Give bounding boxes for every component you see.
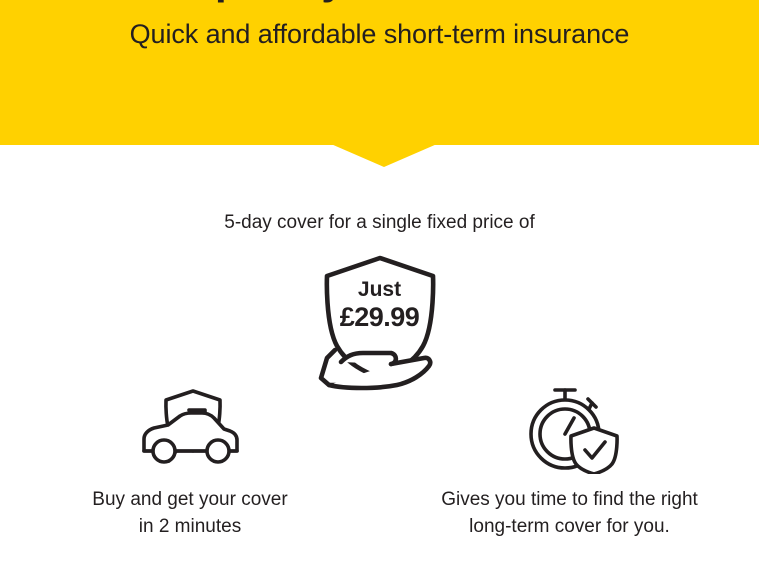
feature-caption-line-2: in 2 minutes bbox=[139, 516, 241, 537]
feature-caption-line-1: Gives you time to find the right bbox=[441, 489, 698, 510]
feature-caption-time-to-choose: Gives you time to find the right long-te… bbox=[441, 476, 698, 540]
hero-banner: Temporary car insurance Quick and afford… bbox=[0, 0, 759, 145]
page-title: Temporary car insurance bbox=[0, 0, 759, 4]
feature-item-time-to-choose: Gives you time to find the right long-te… bbox=[380, 380, 759, 540]
feature-caption-buy-fast: Buy and get your cover in 2 minutes bbox=[92, 476, 287, 540]
feature-list: Buy and get your cover in 2 minutes bbox=[0, 380, 759, 540]
shield-in-hand-icon: Just £29.99 bbox=[305, 252, 455, 392]
hero-headline-clip: Temporary car insurance bbox=[0, 0, 759, 8]
price-intro-text: 5-day cover for a single fixed price of bbox=[0, 210, 759, 236]
hero-subtitle: Quick and affordable short-term insuranc… bbox=[0, 16, 759, 52]
stopwatch-shield-check-icon bbox=[518, 380, 622, 476]
feature-caption-line-2: long-term cover for you. bbox=[469, 516, 670, 537]
car-shield-arrow-icon bbox=[136, 380, 244, 476]
feature-caption-line-1: Buy and get your cover bbox=[92, 489, 287, 510]
feature-item-buy-fast: Buy and get your cover in 2 minutes bbox=[0, 380, 380, 540]
downward-arrow-notch-icon bbox=[331, 144, 437, 167]
